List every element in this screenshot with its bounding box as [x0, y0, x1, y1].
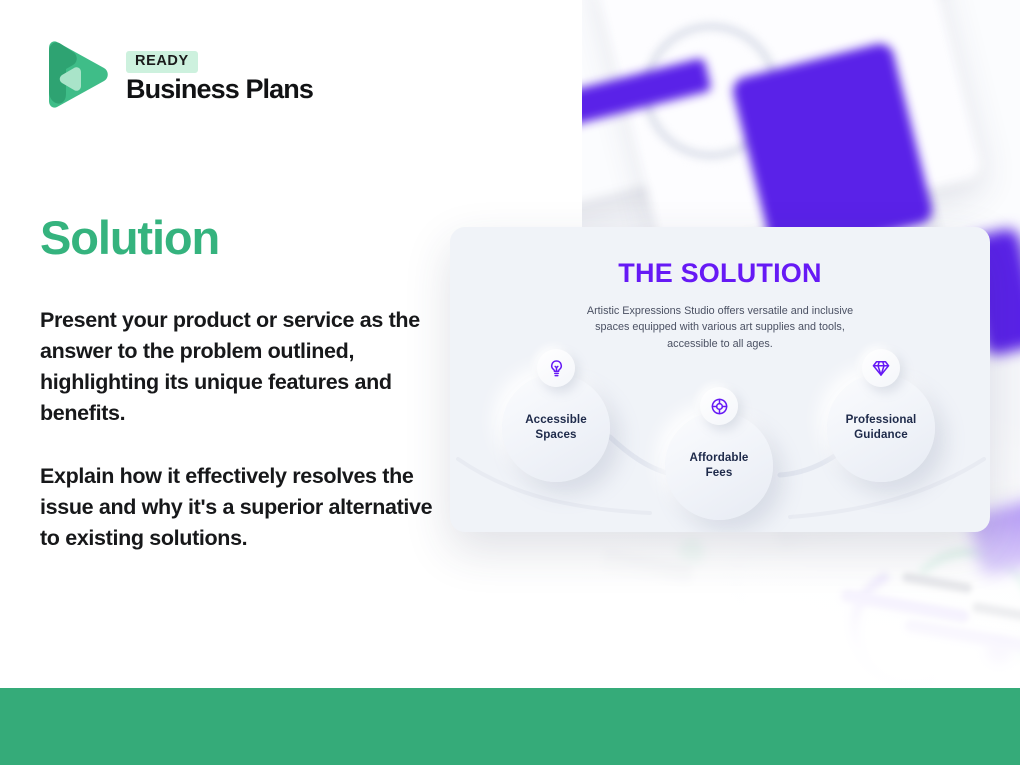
lifebuoy-icon — [700, 387, 738, 425]
footer-bar — [0, 688, 1020, 765]
page-title: Solution — [40, 213, 219, 262]
feature-item-professional-guidance[interactable]: Professional Guidance — [827, 374, 935, 482]
body-paragraph-2: Explain how it effectively resolves the … — [40, 461, 440, 554]
feature-bubble: Accessible Spaces — [502, 374, 610, 482]
brand-logo-lockup[interactable]: READY Business Plans — [40, 38, 313, 118]
solution-feature-card: THE SOLUTION Artistic Expressions Studio… — [450, 227, 990, 532]
body-paragraph-1: Present your product or service as the a… — [40, 305, 440, 429]
feature-bubble: Affordable Fees — [665, 412, 773, 520]
feature-label: Professional Guidance — [846, 413, 917, 443]
play-logo-icon — [40, 38, 112, 118]
feature-item-affordable-fees[interactable]: Affordable Fees — [665, 412, 773, 520]
mock-purple-small-dot — [986, 640, 1012, 666]
body-copy-block: Present your product or service as the a… — [40, 305, 440, 554]
lightbulb-icon — [537, 349, 575, 387]
card-subtitle: Artistic Expressions Studio offers versa… — [570, 303, 870, 352]
feature-bubble: Professional Guidance — [827, 374, 935, 482]
diamond-icon — [862, 349, 900, 387]
brand-text-block: READY Business Plans — [126, 51, 313, 105]
slide-canvas: READY Business Plans Solution Present yo… — [0, 0, 1020, 765]
ready-badge: READY — [126, 51, 198, 73]
feature-item-accessible-spaces[interactable]: Accessible Spaces — [502, 374, 610, 482]
feature-label: Accessible Spaces — [525, 413, 587, 443]
feature-label: Affordable Fees — [690, 451, 749, 481]
card-title: THE SOLUTION — [450, 258, 990, 289]
brand-name: Business Plans — [126, 75, 313, 105]
mock-mint-dot — [678, 540, 704, 566]
